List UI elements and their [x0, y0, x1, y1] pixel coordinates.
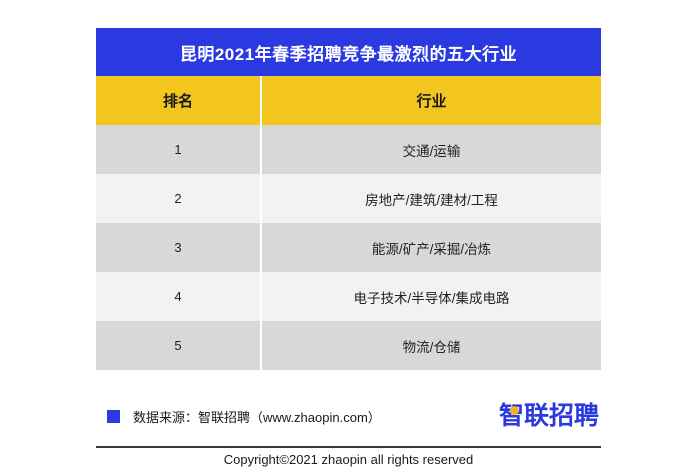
cell-industry: 能源/矿产/采掘/冶炼: [261, 223, 601, 272]
cell-rank: 4: [96, 272, 261, 321]
page-title: 昆明2021年春季招聘竞争最激烈的五大行业: [180, 40, 517, 65]
copyright-text: Copyright©2021 zhaopin all rights reserv…: [96, 452, 601, 467]
cell-rank: 5: [96, 321, 261, 370]
ranking-table: 排名 行业 1 交通/运输 2 房地产/建筑/建材/工程 3 能源/矿产/采掘/…: [96, 76, 601, 370]
table-row: 2 房地产/建筑/建材/工程: [96, 174, 601, 223]
cell-rank: 3: [96, 223, 261, 272]
table-row: 3 能源/矿产/采掘/冶炼: [96, 223, 601, 272]
table-row: 4 电子技术/半导体/集成电路: [96, 272, 601, 321]
cell-industry: 交通/运输: [261, 125, 601, 174]
footer-divider: [96, 446, 601, 448]
source-left-group: 数据来源：智联招聘（www.zhaopin.com）: [96, 407, 499, 426]
infographic-card: 昆明2021年春季招聘竞争最激烈的五大行业 排名 行业 1 交通/运输 2 房地…: [96, 28, 601, 370]
logo-circle-accent-icon: [510, 406, 519, 415]
cell-industry: 电子技术/半导体/集成电路: [261, 272, 601, 321]
table-body: 1 交通/运输 2 房地产/建筑/建材/工程 3 能源/矿产/采掘/冶炼 4 电…: [96, 125, 601, 370]
chart-title-bar: 昆明2021年春季招聘竞争最激烈的五大行业: [96, 28, 601, 76]
cell-rank: 1: [96, 125, 261, 174]
source-label: 数据来源：智联招聘（www.zhaopin.com）: [133, 407, 381, 426]
cell-industry: 物流/仓储: [261, 321, 601, 370]
zhaopin-logo: 智联招聘: [499, 404, 599, 429]
table-header: 排名 行业: [96, 76, 601, 125]
table-header-row: 排名 行业: [96, 76, 601, 125]
table-row: 1 交通/运输: [96, 125, 601, 174]
column-header-rank: 排名: [96, 76, 261, 125]
source-footer: 数据来源：智联招聘（www.zhaopin.com） 智联招聘: [96, 392, 601, 440]
blue-square-bullet-icon: [107, 410, 120, 423]
table-row: 5 物流/仓储: [96, 321, 601, 370]
cell-industry: 房地产/建筑/建材/工程: [261, 174, 601, 223]
cell-rank: 2: [96, 174, 261, 223]
column-header-industry: 行业: [261, 76, 601, 125]
